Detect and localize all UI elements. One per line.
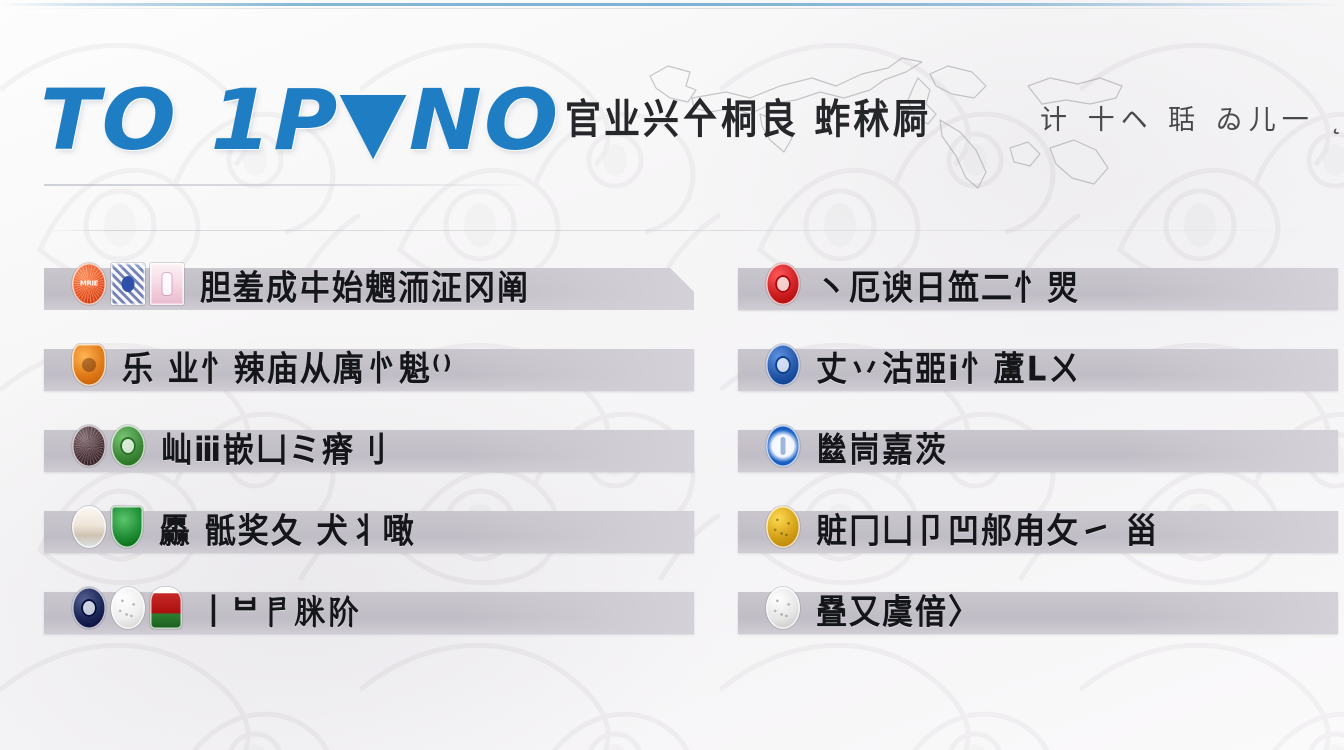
list-item-icons <box>72 587 182 629</box>
orange-lantern-jar-icon <box>72 344 106 386</box>
list-item[interactable]: 屾ⅲ嵌凵ミ瘠刂 <box>44 420 699 472</box>
page-subtitle-tail: 计 十ヘ 聒 ゐ儿一 ˛ <box>1040 98 1344 137</box>
icon-center-motif <box>163 273 172 295</box>
list-item-label: 丈丷沽臦ⅰ忄蘆Lㄨ <box>816 340 1081 390</box>
pale-cream-disc-icon <box>72 506 106 548</box>
list-item-label: 屾ⅲ嵌凵ミ瘠刂 <box>161 421 388 471</box>
title-underline <box>44 184 522 186</box>
list-item-label: 胆羞成㐄始魍洏泟冈阐 <box>200 259 530 309</box>
list-item-icons <box>766 263 800 305</box>
list-item[interactable]: MRIE胆羞成㐄始魍洏泟冈阐 <box>44 258 699 310</box>
icon-center-motif <box>122 276 135 292</box>
list-item-label: 丶厄谀日笽二忄焸 <box>816 259 1080 309</box>
orange-sunburst-seal-icon: MRIE <box>72 263 106 305</box>
icon-seal-text: MRIE <box>72 281 106 288</box>
icon-center-emblem <box>120 437 136 455</box>
list-item-icons <box>72 506 143 548</box>
list-item-icons <box>766 344 800 386</box>
list-item[interactable]: 丶厄谀日笽二忄焸 <box>738 258 1344 310</box>
list-item[interactable]: 疂又虞偣〉 <box>738 582 1344 634</box>
icon-speckle-pattern <box>769 509 797 545</box>
icon-speckle-pattern <box>114 590 142 626</box>
header-divider <box>48 230 1296 231</box>
icon-ring <box>111 506 143 548</box>
slide-root: TO 1P▼NO 官业兴㐃桐良 蚱秫屙 计 十ヘ 聒 ゐ儿一 ˛ MRIE胆羞成… <box>0 0 1344 750</box>
green-wreath-emblem-icon <box>111 425 145 467</box>
pink-scroll-card-icon <box>150 263 184 305</box>
blue-ring-figure-icon <box>766 425 800 467</box>
list-item-label: 厵 骶奖夂 犬丬噉 <box>159 502 416 552</box>
list-item-icons <box>72 344 106 386</box>
icon-speckle-pattern <box>769 590 797 626</box>
list-item-label: 賍冂凵卩凹郍甪攵㇀ 甾 <box>816 502 1159 552</box>
list-item-label: 疂又虞偣〉 <box>816 583 981 633</box>
icon-center-figure <box>781 437 786 455</box>
list-item[interactable]: 乐 业忄辣庙从庽㣺魁⁽⁾ <box>44 339 699 391</box>
icon-ring <box>150 587 182 629</box>
right-column: 丶厄谀日笽二忄焸丈丷沽臦ⅰ忄蘆Lㄨ㡭峝嘉茨賍冂凵卩凹郍甪攵㇀ 甾疂又虞偣〉 <box>738 258 1344 663</box>
list-body: MRIE胆羞成㐄始魍洏泟冈阐乐 业忄辣庙从庽㣺魁⁽⁾屾ⅲ嵌凵ミ瘠刂厵 骶奖夂 犬… <box>0 258 1344 678</box>
list-item-icons <box>72 425 145 467</box>
list-item[interactable]: 丨ᄇ𠁣脒阶 <box>44 582 699 634</box>
list-item-label: 㡭峝嘉茨 <box>816 421 948 471</box>
header: TO 1P▼NO 官业兴㐃桐良 蚱秫屙 计 十ヘ 聒 ゐ儿一 ˛ <box>40 78 1310 198</box>
page-subtitle: 官业兴㐃桐良 蚱秫屙 <box>565 87 932 145</box>
list-item-icons <box>766 506 800 548</box>
white-mesh-disc-icon <box>111 587 145 629</box>
list-item-label: 乐 业忄辣庙从庽㣺魁⁽⁾ <box>122 340 454 390</box>
list-item[interactable]: 㡭峝嘉茨 <box>738 420 1344 472</box>
icon-fan-rays <box>74 427 104 465</box>
green-shield-leaf-icon <box>111 506 143 548</box>
icon-center-emblem <box>775 356 791 374</box>
top-accent-rule <box>0 3 1344 6</box>
left-column: MRIE胆羞成㐄始魍洏泟冈阐乐 业忄辣庙从庽㣺魁⁽⁾屾ⅲ嵌凵ミ瘠刂厵 骶奖夂 犬… <box>44 258 699 663</box>
icon-center-emblem <box>775 275 791 293</box>
list-item[interactable]: 賍冂凵卩凹郍甪攵㇀ 甾 <box>738 501 1344 553</box>
navy-medal-seal-icon <box>72 587 106 629</box>
list-item-label: 丨ᄇ𠁣脒阶 <box>198 583 361 633</box>
grayscale-speckled-disc-icon <box>766 587 800 629</box>
top-secondary-rule <box>0 8 1344 9</box>
icon-center-motif <box>82 358 96 372</box>
list-item-icons <box>766 425 800 467</box>
blue-institutional-crest-icon <box>766 344 800 386</box>
list-item-icons <box>766 587 800 629</box>
icon-center-emblem <box>81 599 97 617</box>
gold-amber-disc-icon <box>766 506 800 548</box>
red-green-gourd-badge-icon <box>150 587 182 629</box>
blue-white-porcelain-tile-icon <box>111 263 145 305</box>
list-item[interactable]: 厵 骶奖夂 犬丬噉 <box>44 501 699 553</box>
list-item-icons: MRIE <box>72 263 184 305</box>
list-item[interactable]: 丈丷沽臦ⅰ忄蘆Lㄨ <box>738 339 1344 391</box>
icon-ring <box>72 506 106 548</box>
dark-brown-fan-seal-icon <box>72 425 106 467</box>
red-round-seal-icon <box>766 263 800 305</box>
